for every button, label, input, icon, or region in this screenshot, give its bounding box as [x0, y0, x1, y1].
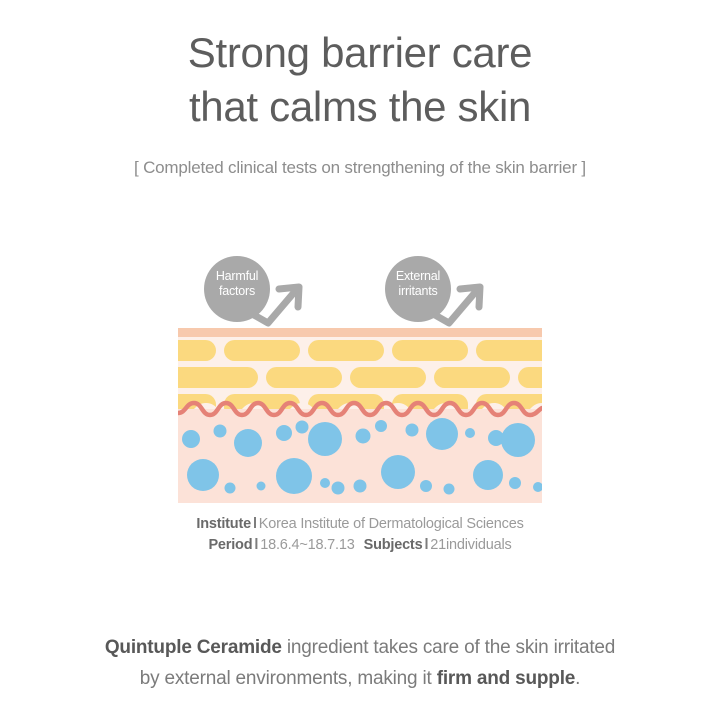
- period-label: Period: [208, 537, 252, 553]
- clinical-test-credits: InstitutelKorea Institute of Dermatologi…: [0, 514, 720, 556]
- credits-period-row: Periodl18.6.4~18.7.13Subjectsl21individu…: [0, 535, 720, 556]
- credits-institute-row: InstitutelKorea Institute of Dermatologi…: [0, 514, 720, 535]
- page-subtitle: [ Completed clinical tests on strengthen…: [0, 156, 720, 180]
- footer-highlight-benefit: firm and supple: [437, 668, 575, 689]
- skin-barrier-illustration: [178, 243, 542, 509]
- skin-surface-strip: [178, 328, 542, 337]
- footer-highlight-ingredient: Quintuple Ceramide: [105, 637, 282, 658]
- page-title-line-1: Strong barrier care: [0, 26, 720, 80]
- footer-line-1-text: ingredient takes care of the skin irrita…: [282, 637, 615, 658]
- institute-value: Korea Institute of Dermatological Scienc…: [259, 516, 524, 532]
- subjects-label: Subjects: [364, 537, 423, 553]
- footer-line-2-period: .: [575, 668, 580, 689]
- footer-line-1: Quintuple Ceramide ingredient takes care…: [0, 632, 720, 663]
- external-irritants-bubble: [385, 256, 451, 322]
- footer-description: Quintuple Ceramide ingredient takes care…: [0, 632, 720, 694]
- period-value: 18.6.4~18.7.13: [260, 537, 354, 553]
- footer-line-2-text: by external environments, making it: [140, 668, 437, 689]
- footer-line-2: by external environments, making it firm…: [0, 663, 720, 694]
- brick-row-1: [178, 340, 542, 361]
- skin-barrier-diagram: Harmful factors External irritants: [178, 243, 542, 509]
- credits-separator: l: [251, 516, 259, 532]
- harmful-factors-bubble: [204, 256, 270, 322]
- subjects-value: 21individuals: [430, 537, 511, 553]
- page-title: Strong barrier care that calms the skin: [0, 26, 720, 134]
- brick-row-2: [178, 367, 542, 388]
- page-title-line-2: that calms the skin: [0, 80, 720, 134]
- institute-label: Institute: [196, 516, 251, 532]
